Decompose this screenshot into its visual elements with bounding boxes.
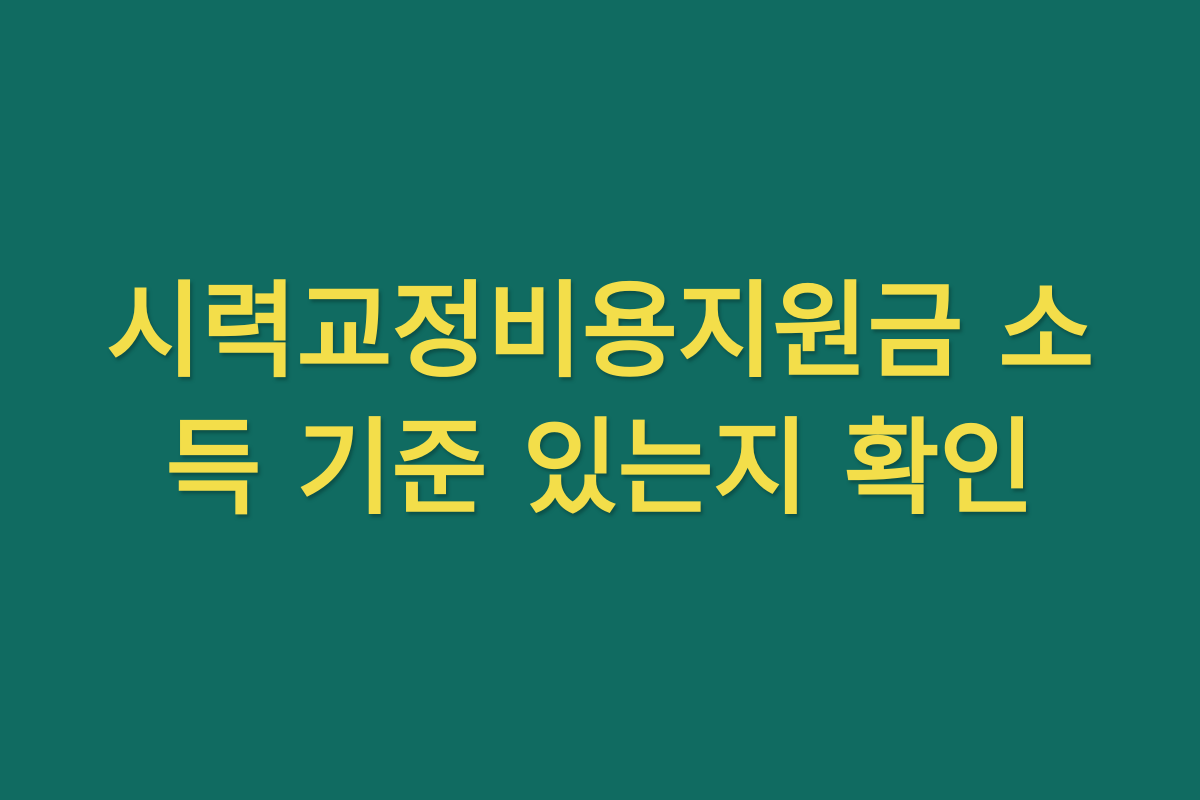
headline-text: 시력교정비용지원금 소 득 기준 있는지 확인 [100,263,1100,538]
banner-background: 시력교정비용지원금 소 득 기준 있는지 확인 [0,0,1200,800]
